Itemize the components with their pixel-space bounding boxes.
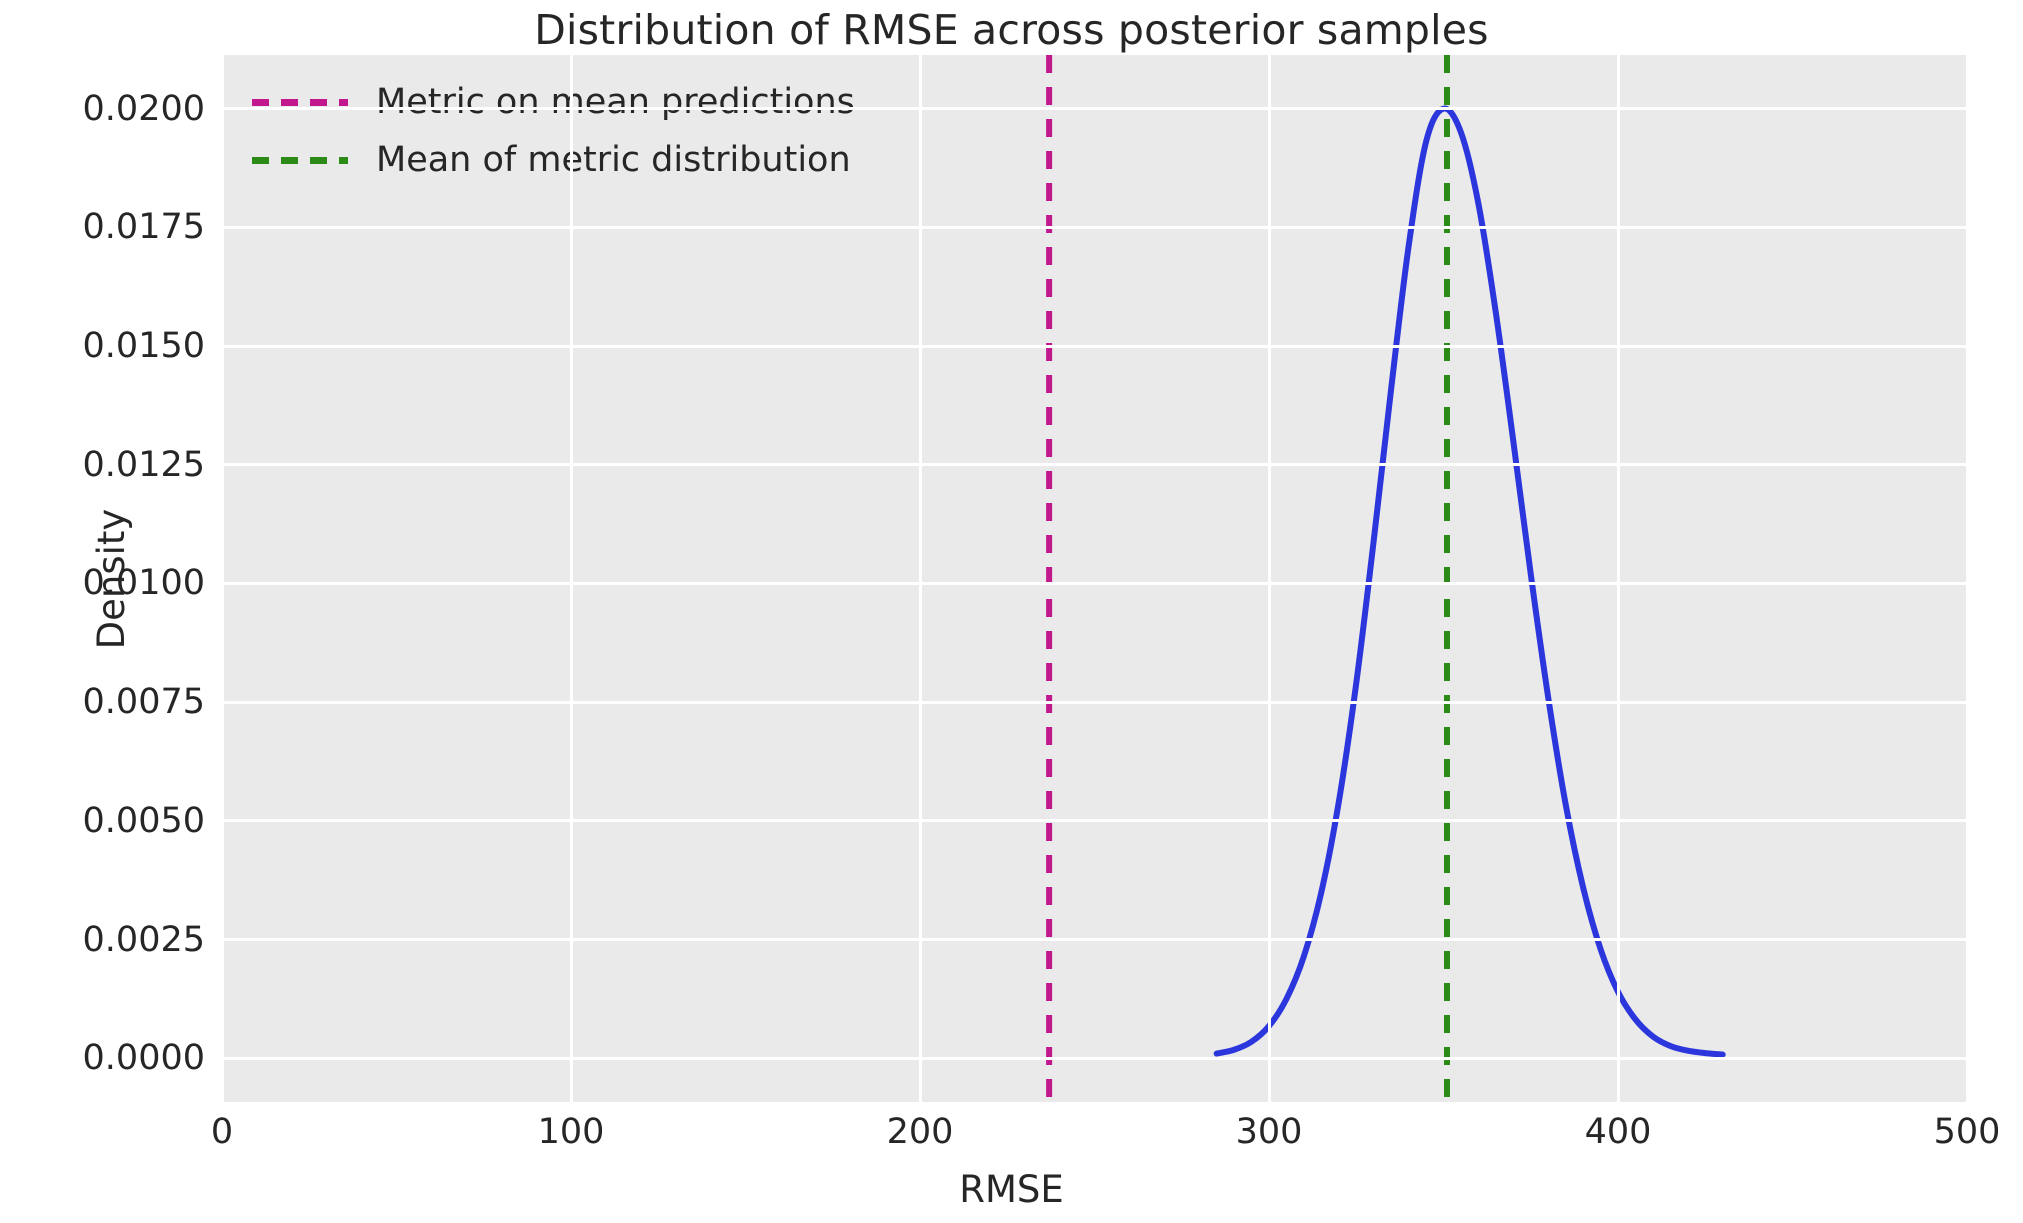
y-tick-label: 0.0025 <box>5 920 205 960</box>
y-tick-label: 0.0125 <box>5 445 205 485</box>
x-axis-tick-labels: 0100200300400500 <box>0 1112 2023 1158</box>
x-tick-label: 400 <box>1585 1112 1652 1152</box>
gridline-vertical <box>222 55 224 1102</box>
x-tick-label: 300 <box>1236 1112 1303 1152</box>
x-tick-label: 200 <box>887 1112 954 1152</box>
legend-swatch-green-dashed-line-icon <box>252 157 348 164</box>
plot-area: Metric on mean predictions Mean of metri… <box>222 55 1967 1102</box>
gridline-horizontal <box>222 701 1967 704</box>
chart-title: Distribution of RMSE across posterior sa… <box>0 6 2023 54</box>
reference-vlines <box>222 55 1967 1102</box>
y-tick-label: 0.0075 <box>5 682 205 722</box>
y-tick-label: 0.0150 <box>5 326 205 366</box>
y-axis-tick-labels: 0.00000.00250.00500.00750.01000.01250.01… <box>0 55 205 1102</box>
x-axis-label: RMSE <box>0 1168 2023 1211</box>
gridline-horizontal <box>222 463 1967 466</box>
gridline-horizontal <box>222 938 1967 941</box>
y-tick-label: 0.0100 <box>5 563 205 603</box>
y-tick-label: 0.0000 <box>5 1038 205 1078</box>
legend-label: Mean of metric distribution <box>376 140 851 180</box>
y-tick-label: 0.0200 <box>5 89 205 129</box>
gridline-vertical <box>1268 55 1271 1102</box>
legend-item-mean-of-metric-distribution: Mean of metric distribution <box>252 131 872 189</box>
legend: Metric on mean predictions Mean of metri… <box>252 73 872 189</box>
gridline-vertical <box>919 55 922 1102</box>
gridline-vertical <box>570 55 573 1102</box>
gridline-vertical <box>1617 55 1620 1102</box>
gridline-horizontal <box>222 226 1967 229</box>
legend-item-metric-on-mean-predictions: Metric on mean predictions <box>252 73 872 131</box>
legend-swatch-magenta-dashed-line-icon <box>252 99 348 106</box>
gridline-vertical <box>1966 55 1968 1102</box>
chart-figure: Distribution of RMSE across posterior sa… <box>0 0 2023 1223</box>
gridline-horizontal <box>222 819 1967 822</box>
gridline-horizontal <box>222 1057 1967 1060</box>
y-tick-label: 0.0175 <box>5 207 205 247</box>
gridline-horizontal <box>222 345 1967 348</box>
gridline-horizontal <box>222 107 1967 110</box>
x-tick-label: 500 <box>1934 1112 2001 1152</box>
legend-label: Metric on mean predictions <box>376 82 855 122</box>
y-tick-label: 0.0050 <box>5 801 205 841</box>
gridline-horizontal <box>222 582 1967 585</box>
x-tick-label: 0 <box>211 1112 233 1152</box>
x-tick-label: 100 <box>538 1112 605 1152</box>
